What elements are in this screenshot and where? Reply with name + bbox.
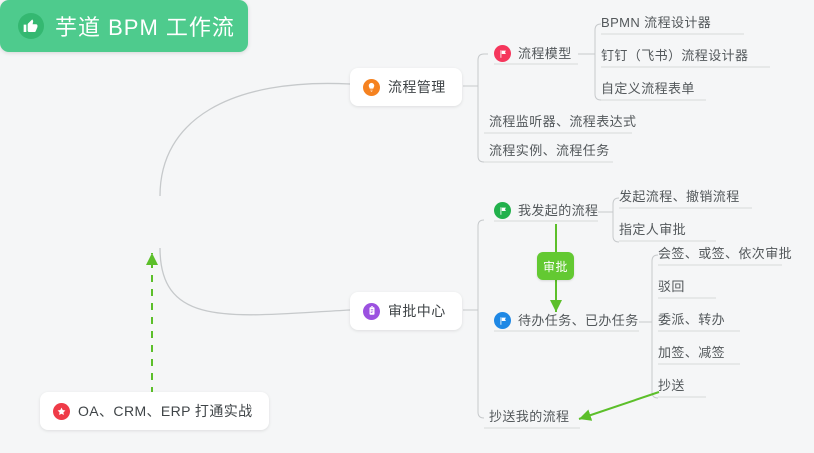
node-label-bpmn-designer: BPMN 流程设计器 <box>601 15 711 30</box>
node-label-assignee-approval: 指定人审批 <box>619 222 686 237</box>
link-root-to-approval-center <box>160 248 350 315</box>
side-node-integration-practice[interactable]: OA、CRM、ERP 打通实战 <box>40 392 269 430</box>
node-listener-expression[interactable]: 流程监听器、流程表达式 <box>489 113 636 134</box>
arrow-cc-to-ccme <box>579 392 659 419</box>
clipboard-icon <box>363 303 380 320</box>
node-start-cancel[interactable]: 发起流程、撤销流程 <box>619 188 740 209</box>
node-label-process-model: 流程模型 <box>518 45 572 62</box>
node-label-custom-process-form: 自定义流程表单 <box>601 81 695 96</box>
branch-label-approval-center: 审批中心 <box>388 301 446 321</box>
node-cc-to-me[interactable]: 抄送我的流程 <box>489 408 569 429</box>
node-process-model[interactable]: 流程模型 <box>494 45 572 66</box>
branch-label-process-management: 流程管理 <box>388 77 446 97</box>
mindmap-canvas: 芋道 BPM 工作流 流程管理 流程模型 BPMN 流程设计器 钉钉（飞书）流程… <box>0 0 814 453</box>
flag-icon <box>494 45 511 62</box>
node-dingtalk-feishu-designer[interactable]: 钉钉（飞书）流程设计器 <box>601 47 748 68</box>
node-reject[interactable]: 驳回 <box>658 278 685 299</box>
approve-tag-label: 审批 <box>543 258 568 275</box>
flag-icon <box>494 202 511 219</box>
node-label-dingtalk-feishu-designer: 钉钉（飞书）流程设计器 <box>601 48 748 63</box>
branch-node-approval-center[interactable]: 审批中心 <box>350 292 462 330</box>
node-countersign[interactable]: 会签、或签、依次审批 <box>658 245 792 266</box>
branch-node-process-management[interactable]: 流程管理 <box>350 68 462 106</box>
link-root-to-process-management <box>160 83 350 196</box>
node-add-remove-sign[interactable]: 加签、减签 <box>658 344 725 365</box>
side-node-label: OA、CRM、ERP 打通实战 <box>78 401 253 421</box>
star-icon <box>53 403 70 420</box>
node-assignee-approval[interactable]: 指定人审批 <box>619 221 686 242</box>
node-label-reject: 驳回 <box>658 279 685 294</box>
node-my-initiated[interactable]: 我发起的流程 <box>494 202 598 223</box>
thumbs-up-icon <box>18 13 44 39</box>
node-delegate-transfer[interactable]: 委派、转办 <box>658 311 725 332</box>
node-bpmn-designer[interactable]: BPMN 流程设计器 <box>601 14 711 35</box>
bracket-pm-bottom-cap <box>478 156 484 162</box>
node-label-my-initiated: 我发起的流程 <box>518 202 598 219</box>
node-label-cc-to-me: 抄送我的流程 <box>489 409 569 424</box>
node-todo-done[interactable]: 待办任务、已办任务 <box>494 312 639 333</box>
root-node[interactable]: 芋道 BPM 工作流 <box>0 0 248 52</box>
bracket-ac-bottom-cap <box>478 412 484 418</box>
node-label-listener-expression: 流程监听器、流程表达式 <box>489 114 636 129</box>
lightbulb-pin-icon <box>363 79 380 96</box>
node-label-cc: 抄送 <box>658 378 685 393</box>
node-label-todo-done: 待办任务、已办任务 <box>518 312 639 329</box>
node-instance-task[interactable]: 流程实例、流程任务 <box>489 142 610 163</box>
node-label-start-cancel: 发起流程、撤销流程 <box>619 189 740 204</box>
node-cc[interactable]: 抄送 <box>658 377 685 398</box>
node-label-instance-task: 流程实例、流程任务 <box>489 143 610 158</box>
bracket-ac-top-cap <box>478 220 484 226</box>
node-label-countersign: 会签、或签、依次审批 <box>658 246 792 261</box>
flag-icon <box>494 312 511 329</box>
bracket-pm-top-cap <box>478 54 488 60</box>
node-label-delegate-transfer: 委派、转办 <box>658 312 725 327</box>
root-node-label: 芋道 BPM 工作流 <box>55 10 235 42</box>
node-label-add-remove-sign: 加签、减签 <box>658 345 725 360</box>
node-custom-process-form[interactable]: 自定义流程表单 <box>601 80 695 101</box>
approve-tag: 审批 <box>537 252 574 280</box>
